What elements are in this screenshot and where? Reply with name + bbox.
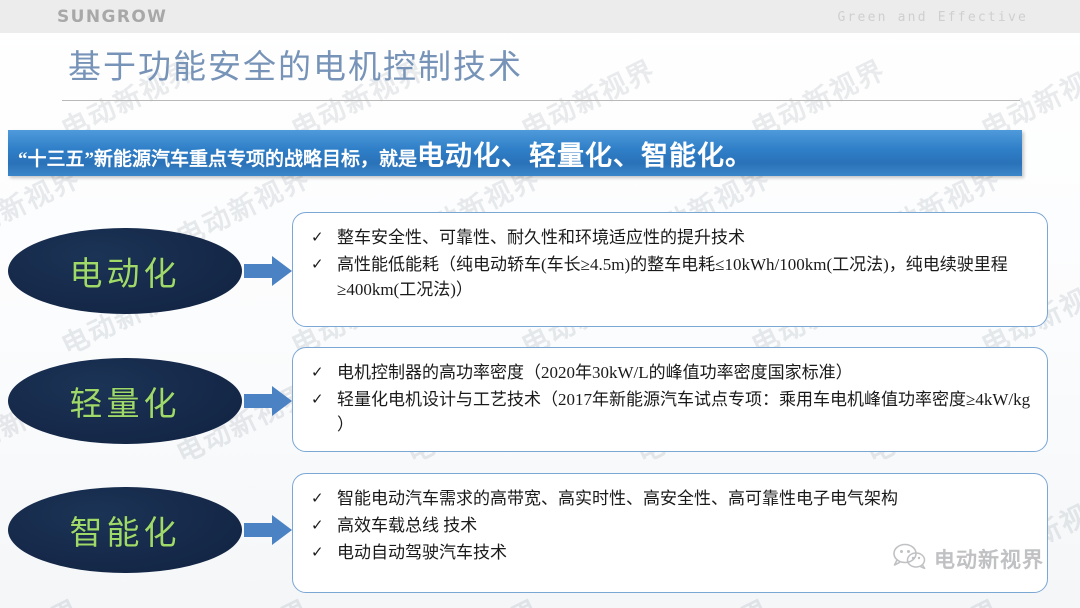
check-icon: ✓ [307, 252, 337, 277]
header-tagline: Green and Effective [837, 10, 1028, 25]
category-label: 轻量化 [70, 377, 181, 425]
wechat-account-name: 电动新视界 [934, 544, 1044, 574]
bullet-item: ✓高效车载总线 技术 [307, 513, 1033, 538]
bullet-text: 整车安全性、可靠性、耐久性和环境适应性的提升技术 [337, 225, 1033, 250]
right-arrow-icon [244, 513, 294, 547]
bullet-text: 高效车载总线 技术 [337, 513, 1033, 538]
category-label: 电动化 [70, 247, 181, 295]
right-arrow-icon [244, 384, 294, 418]
watermark-text: 电动新视界 [169, 588, 316, 608]
sungrow-logo: SUNGROW [57, 7, 167, 27]
slide-canvas: 电动新视界电动新视界电动新视界电动新视界电动新视界电动新视界电动新视界电动新视界… [0, 0, 1080, 608]
bullet-text: 高性能低能耗（纯电动轿车(车长≥4.5m)的整车电耗≤10kWh/100km(工… [337, 252, 1033, 302]
bullet-item: ✓整车安全性、可靠性、耐久性和环境适应性的提升技术 [307, 225, 1033, 250]
detail-box-2: ✓电机控制器的高功率密度（2020年30kW/L的峰值功率密度国家标准）✓轻量化… [292, 347, 1048, 452]
wechat-icon [892, 543, 926, 574]
banner-emphasis-text: 电动化、轻量化、智能化。 [417, 141, 753, 171]
banner-text: “十三五”新能源汽车重点专项的战略目标，就是电动化、轻量化、智能化。 [8, 134, 753, 173]
strategy-banner: “十三五”新能源汽车重点专项的战略目标，就是电动化、轻量化、智能化。 [8, 130, 1022, 176]
banner-lead-text: “十三五”新能源汽车重点专项的战略目标，就是 [18, 149, 417, 170]
category-label: 智能化 [70, 506, 181, 554]
page-title: 基于功能安全的电机控制技术 [68, 40, 523, 88]
bullet-item: ✓高性能低能耗（纯电动轿车(车长≥4.5m)的整车电耗≤10kWh/100km(… [307, 252, 1033, 302]
bullet-text: 智能电动汽车需求的高带宽、高实时性、高安全性、高可靠性电子电气架构 [337, 486, 1033, 511]
check-icon: ✓ [307, 360, 337, 385]
category-ellipse-1[interactable]: 电动化 [8, 228, 242, 314]
detail-box-1: ✓整车安全性、可靠性、耐久性和环境适应性的提升技术✓高性能低能耗（纯电动轿车(车… [292, 212, 1048, 327]
category-ellipse-3[interactable]: 智能化 [8, 487, 242, 573]
detail-box-3: ✓智能电动汽车需求的高带宽、高实时性、高安全性、高可靠性电子电气架构✓高效车载总… [292, 473, 1048, 593]
bullet-text: 电机控制器的高功率密度（2020年30kW/L的峰值功率密度国家标准） [337, 360, 1033, 385]
wechat-badge: 电动新视界 [892, 543, 1044, 574]
title-divider [62, 100, 1020, 101]
bullet-text: 轻量化电机设计与工艺技术（2017年新能源汽车试点专项：乘用车电机峰值功率密度≥… [337, 387, 1033, 437]
check-icon: ✓ [307, 225, 337, 250]
bullet-item: ✓轻量化电机设计与工艺技术（2017年新能源汽车试点专项：乘用车电机峰值功率密度… [307, 387, 1033, 437]
right-arrow-icon [244, 254, 294, 288]
check-icon: ✓ [307, 540, 337, 565]
header-bar: SUNGROW Green and Effective [0, 0, 1080, 33]
category-ellipse-2[interactable]: 轻量化 [8, 358, 242, 444]
bullet-item: ✓智能电动汽车需求的高带宽、高实时性、高安全性、高可靠性电子电气架构 [307, 486, 1033, 511]
check-icon: ✓ [307, 513, 337, 538]
watermark-text: 电动新视界 [0, 588, 86, 608]
check-icon: ✓ [307, 486, 337, 511]
bullet-item: ✓电机控制器的高功率密度（2020年30kW/L的峰值功率密度国家标准） [307, 360, 1033, 385]
check-icon: ✓ [307, 387, 337, 412]
